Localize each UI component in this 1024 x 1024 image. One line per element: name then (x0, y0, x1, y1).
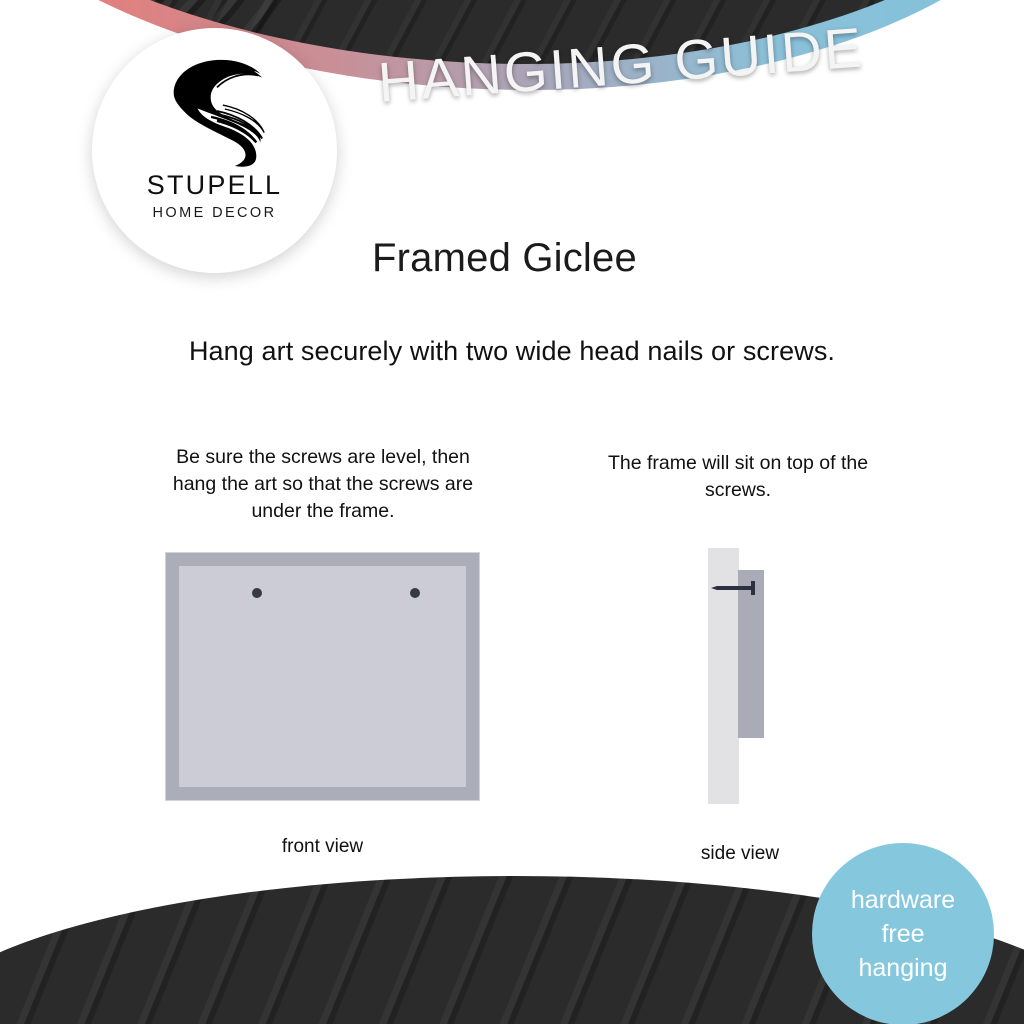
nail-head-icon (751, 581, 755, 595)
brand-logo-badge: STUPELL HOME DECOR (92, 28, 337, 273)
badge-line-1: hardware (851, 883, 955, 917)
side-view-diagram (708, 548, 770, 804)
stupell-swoosh-logo-icon (156, 50, 274, 168)
brand-name: STUPELL (147, 170, 282, 201)
frame-profile (738, 570, 764, 738)
screw-dot-left (252, 588, 262, 598)
hanging-guide-page: HANGING GUIDE STUPELL HOME DECOR Framed … (0, 0, 1024, 1024)
screw-dot-right (410, 588, 420, 598)
front-view-label: front view (165, 836, 480, 858)
badge-line-3: hanging (859, 951, 948, 985)
badge-line-2: free (881, 917, 924, 951)
side-view-label: side view (645, 843, 835, 865)
side-view-caption: The frame will sit on top of the screws. (588, 450, 888, 504)
product-type-label: Framed Giclee (372, 236, 637, 281)
hardware-free-hanging-badge: hardware free hanging (812, 843, 994, 1024)
main-instruction-text: Hang art securely with two wide head nai… (0, 336, 1024, 367)
frame-mat-area (179, 566, 466, 787)
front-view-diagram (165, 552, 480, 801)
page-title: HANGING GUIDE (376, 14, 866, 114)
front-view-caption: Be sure the screws are level, then hang … (165, 444, 481, 525)
nail-icon (711, 586, 753, 590)
brand-tagline: HOME DECOR (153, 205, 277, 221)
